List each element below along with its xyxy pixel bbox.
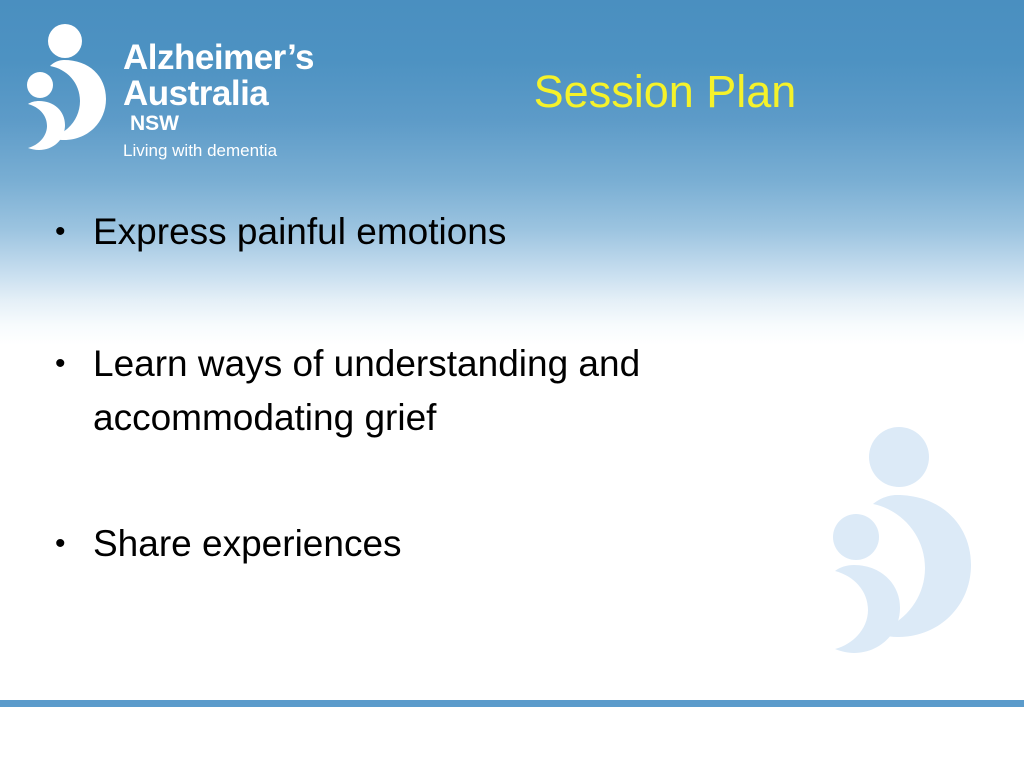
footer-divider [0,700,1024,707]
spacer [55,445,885,517]
bullet-marker-icon: • [55,517,93,571]
logo-line-alzheimers: Alzheimer’s [123,40,323,76]
list-item-text: Learn ways of understanding and accommod… [93,337,793,445]
list-item: • Express painful emotions [55,205,885,259]
list-item: • Learn ways of understanding and accomm… [55,337,885,445]
list-item: • Share experiences [55,517,885,571]
logo: Alzheimer’s AustraliaNSW Living with dem… [18,22,318,152]
slide: Alzheimer’s AustraliaNSW Living with dem… [0,0,1024,768]
bullet-marker-icon: • [55,205,93,259]
slide-title: Session Plan [340,66,990,118]
logo-state-nsw: NSW [130,112,179,136]
logo-text: Alzheimer’s AustraliaNSW Living with dem… [123,40,323,162]
bullet-list: • Express painful emotions • Learn ways … [55,205,885,571]
list-item-text: Share experiences [93,517,793,571]
logo-tagline: Living with dementia [123,140,323,162]
alzheimers-australia-person-logo-icon [18,22,118,152]
bullet-marker-icon: • [55,337,93,391]
logo-line-australia: Australia [123,76,268,112]
list-item-text: Express painful emotions [93,205,793,259]
footer: © Alzheimer’s Australia NSW National Dem… [0,707,1024,768]
spacer [55,259,885,337]
